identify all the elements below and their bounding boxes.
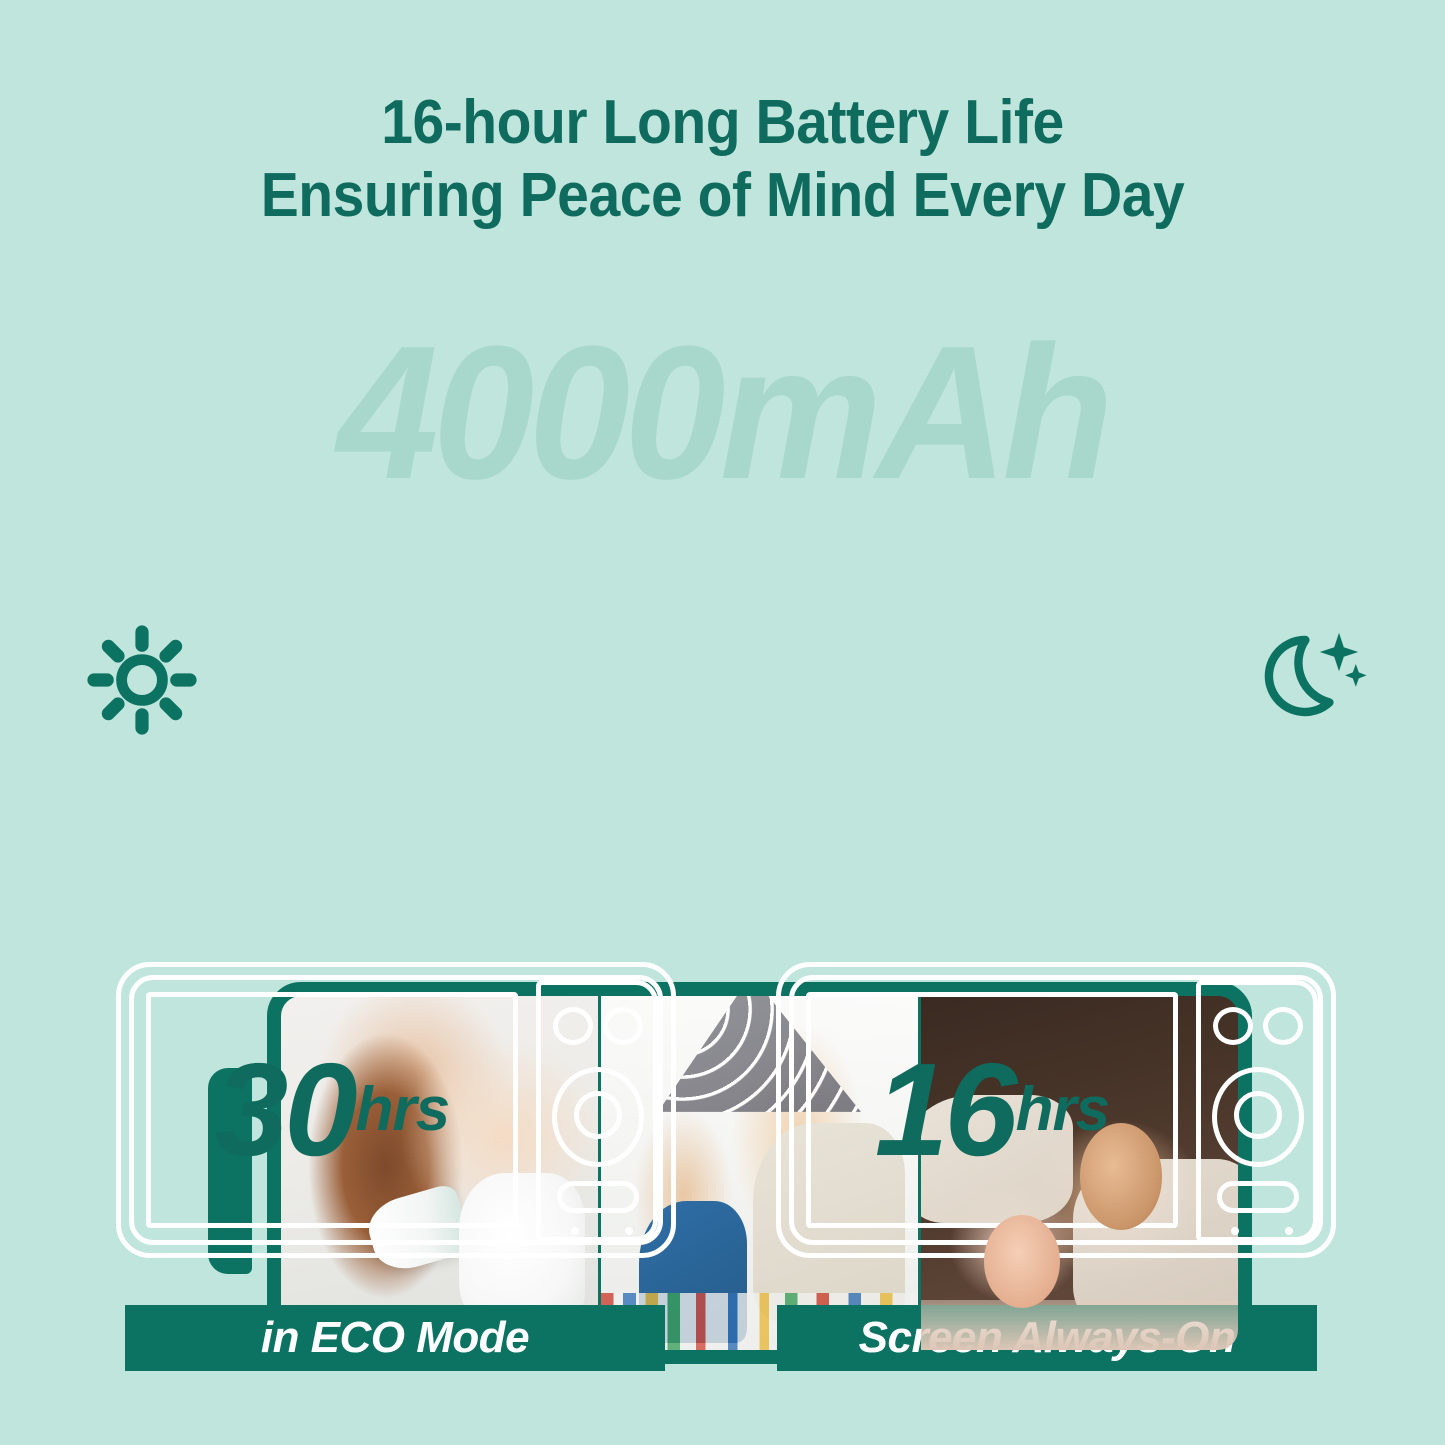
speaker-center-icon	[574, 1091, 622, 1139]
power-button-icon	[557, 1181, 639, 1213]
always-on-hours-number: 16	[875, 1044, 1014, 1176]
label-eco-mode: in ECO Mode	[125, 1305, 665, 1371]
mother-head	[1080, 1123, 1162, 1229]
battery-life-cards: 30hrs 16hrs	[0, 962, 1445, 1272]
eco-hours-value: 30hrs	[146, 992, 518, 1228]
status-dot-left-icon	[1231, 1227, 1239, 1235]
power-button-icon	[1217, 1181, 1299, 1213]
always-on-hours-unit: hrs	[1016, 1079, 1109, 1141]
status-dot-right-icon	[1285, 1227, 1293, 1235]
bed-surface	[921, 1300, 1238, 1350]
monitor-control-panel	[1196, 980, 1318, 1242]
capacity-watermark: 4000mAh	[29, 318, 1416, 508]
eco-hours-number: 30	[215, 1044, 354, 1176]
indicator-circle-right-icon	[1263, 1007, 1303, 1045]
status-dot-left-icon	[571, 1227, 579, 1235]
eco-hours-unit: hrs	[356, 1079, 449, 1141]
monitor-control-panel	[536, 980, 658, 1242]
indicator-circle-left-icon	[553, 1007, 593, 1045]
headline-line-1: 16-hour Long Battery Life	[58, 86, 1387, 159]
page-title: 16-hour Long Battery Life Ensuring Peace…	[58, 86, 1387, 232]
newborn-head	[984, 1215, 1060, 1307]
promo-page: 16-hour Long Battery Life Ensuring Peace…	[0, 0, 1445, 1445]
status-dot-right-icon	[625, 1227, 633, 1235]
card-always-on: 16hrs	[776, 962, 1336, 1258]
card-eco-mode: 30hrs	[116, 962, 676, 1258]
battery-graphic	[0, 490, 1445, 880]
speaker-center-icon	[1234, 1091, 1282, 1139]
headline-line-2: Ensuring Peace of Mind Every Day	[58, 159, 1387, 232]
indicator-circle-left-icon	[1213, 1007, 1253, 1045]
indicator-circle-right-icon	[603, 1007, 643, 1045]
